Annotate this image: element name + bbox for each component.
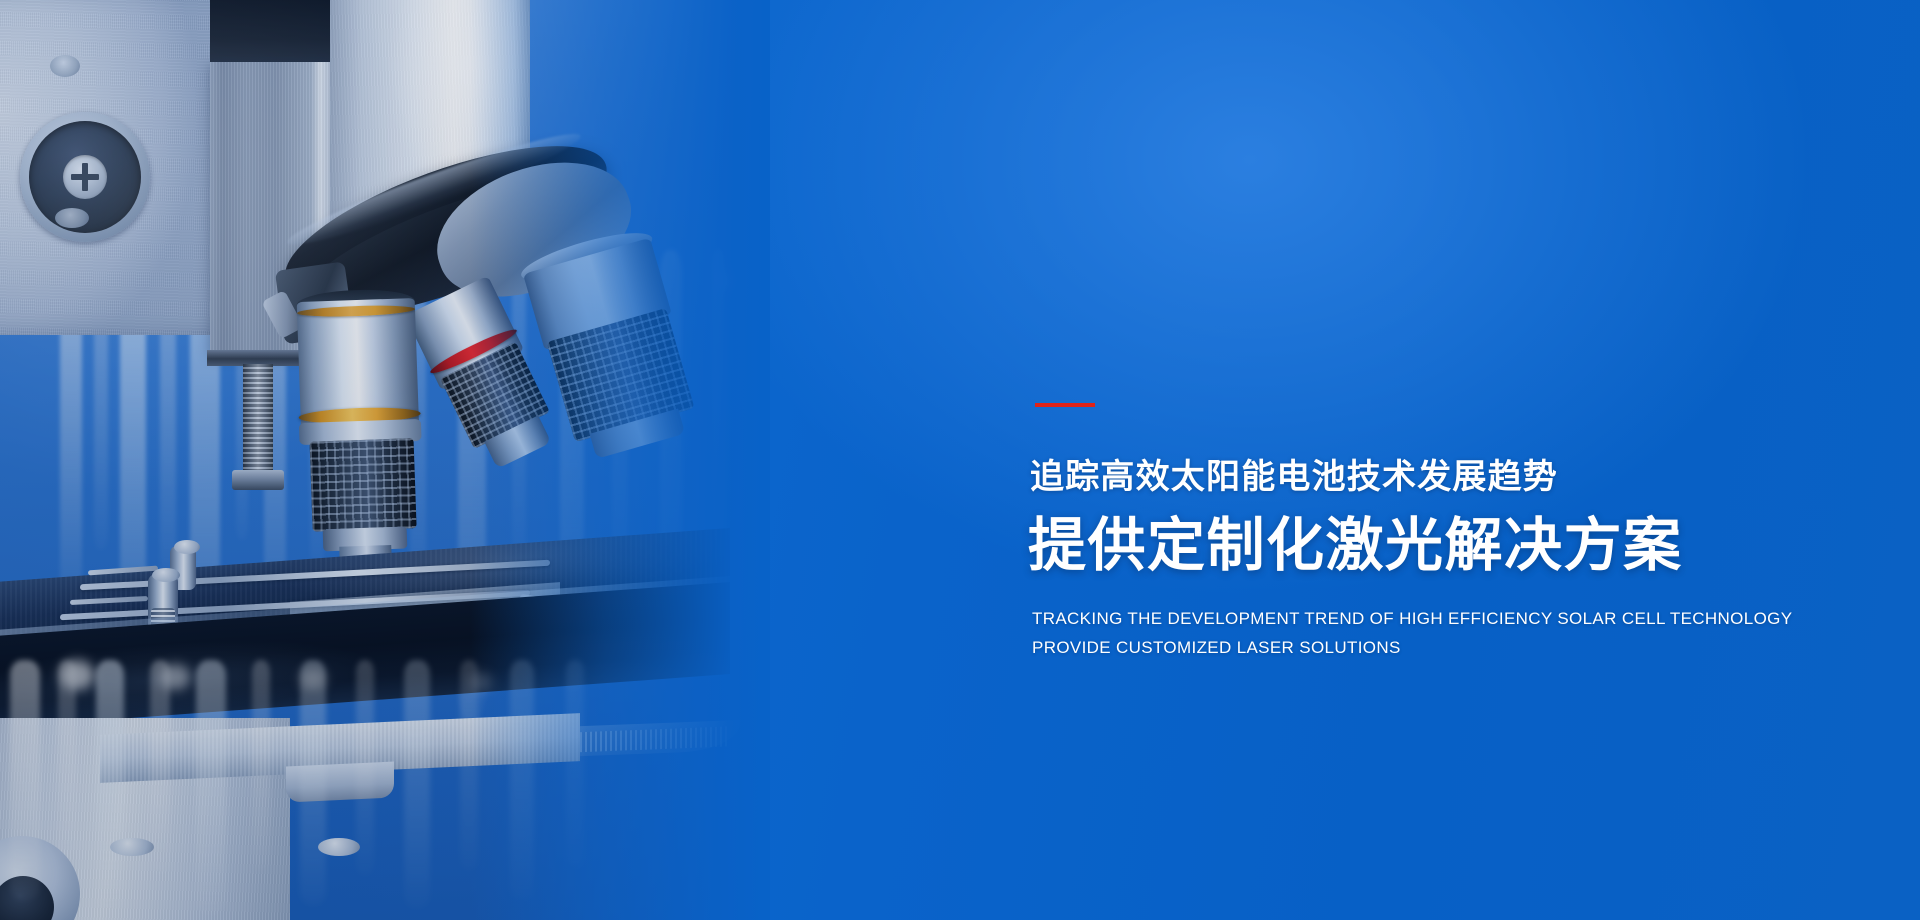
page-title: 提供定制化激光解决方案 (1028, 513, 1683, 580)
hero-banner: 追踪高效太阳能电池技术发展趋势 提供定制化激光解决方案 TRACKING THE… (0, 0, 1920, 920)
subtitle-en-line-2: PROVIDE CUSTOMIZED LASER SOLUTIONS (1032, 638, 1401, 658)
photo-right-fade (470, 0, 770, 920)
subtitle-en-line-1: TRACKING THE DEVELOPMENT TREND OF HIGH E… (1032, 609, 1792, 629)
red-accent-dash (1035, 403, 1095, 407)
headline-subtitle-cn: 追踪高效太阳能电池技术发展趋势 (1030, 458, 1558, 497)
microscope-photo (0, 0, 770, 920)
hero-text-block: 追踪高效太阳能电池技术发展趋势 提供定制化激光解决方案 TRACKING THE… (1030, 0, 1890, 920)
